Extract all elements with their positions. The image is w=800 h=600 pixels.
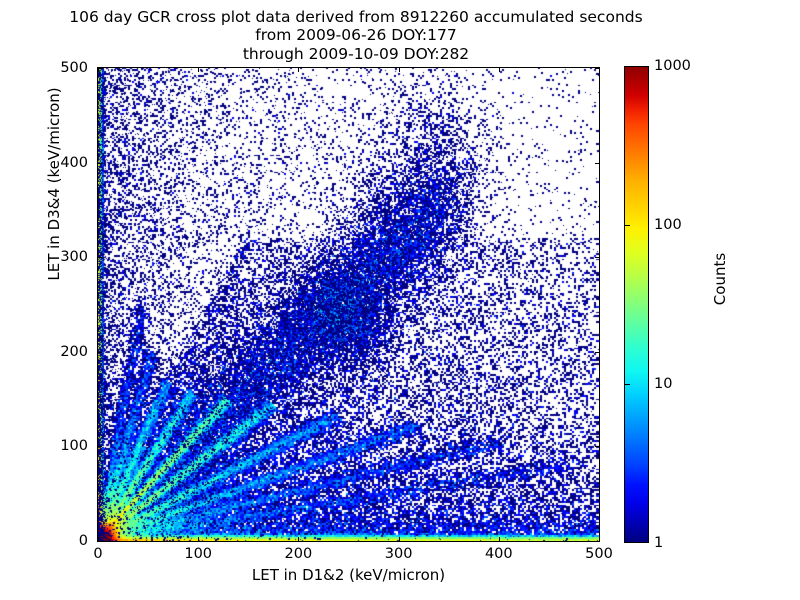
x-tick-mark [298, 68, 299, 72]
y-tick-mark [98, 446, 102, 447]
x-tick-mark [298, 537, 299, 541]
y-tick-mark [98, 541, 102, 542]
x-axis-label: LET in D1&2 (keV/micron) [97, 566, 600, 584]
scatter-plot-figure: 106 day GCR cross plot data derived from… [0, 0, 800, 600]
colorbar [624, 66, 649, 543]
y-tick-label: 0 [28, 533, 88, 549]
x-tick-label: 0 [93, 546, 102, 562]
plot-area [97, 67, 600, 542]
colorbar-tick-label: 1000 [654, 58, 691, 74]
colorbar-label: Counts [711, 219, 729, 339]
x-tick-label: 300 [385, 546, 413, 562]
x-tick-mark [499, 537, 500, 541]
y-tick-mark [98, 68, 102, 69]
y-tick-mark [595, 163, 599, 164]
x-tick-mark [198, 537, 199, 541]
y-tick-mark [595, 446, 599, 447]
title-line-1: 106 day GCR cross plot data derived from… [0, 8, 712, 26]
y-tick-mark [595, 352, 599, 353]
colorbar-tick-mark [625, 225, 630, 226]
x-tick-label: 100 [184, 546, 212, 562]
y-tick-label: 200 [28, 344, 88, 360]
x-tick-mark [599, 537, 600, 541]
y-tick-mark [595, 541, 599, 542]
title-line-2: from 2009-06-26 DOY:177 [0, 26, 712, 44]
y-tick-label: 100 [28, 438, 88, 454]
x-tick-label: 400 [485, 546, 513, 562]
colorbar-tick-label: 1 [654, 535, 663, 551]
colorbar-gradient [625, 67, 648, 542]
colorbar-tick-mark [625, 384, 630, 385]
y-axis-label: LET in D3&4 (keV/micron) [45, 54, 63, 314]
x-tick-mark [599, 68, 600, 72]
x-tick-mark [499, 68, 500, 72]
x-tick-label: 500 [585, 546, 613, 562]
y-tick-mark [595, 257, 599, 258]
colorbar-tick-label: 10 [654, 376, 672, 392]
y-tick-mark [98, 163, 102, 164]
x-tick-mark [198, 68, 199, 72]
chart-title: 106 day GCR cross plot data derived from… [0, 8, 712, 63]
x-tick-mark [399, 537, 400, 541]
y-tick-mark [98, 257, 102, 258]
x-tick-mark [399, 68, 400, 72]
x-tick-label: 200 [285, 546, 313, 562]
scatter-density-canvas [98, 68, 599, 541]
y-tick-mark [98, 352, 102, 353]
colorbar-tick-label: 100 [654, 217, 682, 233]
title-line-3: through 2009-10-09 DOY:282 [0, 45, 712, 63]
y-tick-mark [595, 68, 599, 69]
